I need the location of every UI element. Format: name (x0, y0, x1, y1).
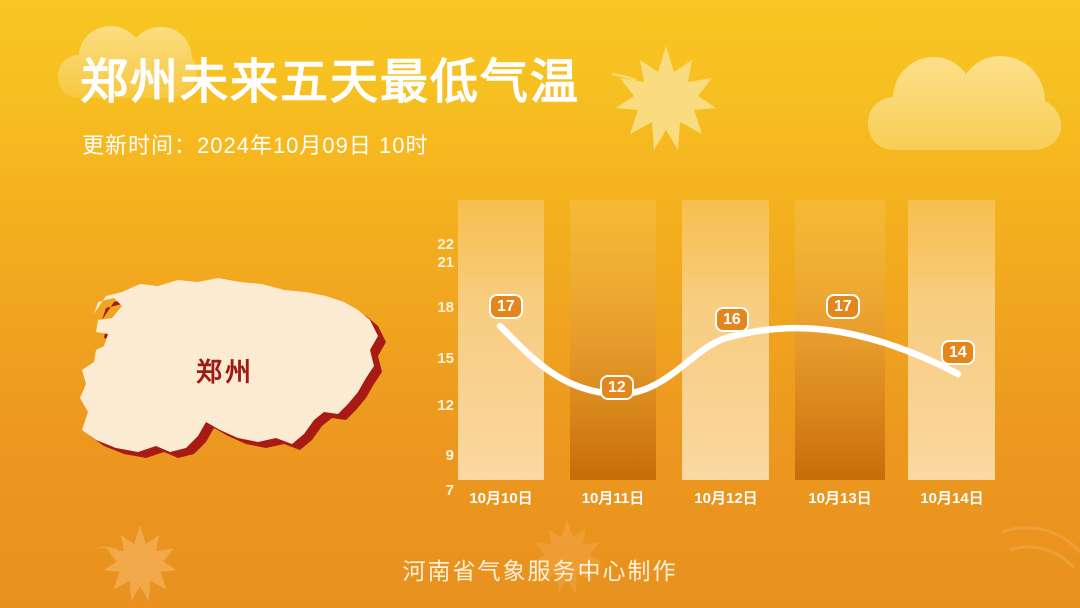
data-point-label: 12 (600, 375, 634, 400)
footer-credit: 河南省气象服务中心制作 (0, 552, 1080, 586)
chart-bar (458, 200, 544, 480)
y-axis-tick: 15 (412, 350, 454, 367)
x-axis-tick: 10月12日 (671, 487, 781, 508)
x-axis-tick: 10月10日 (446, 487, 556, 508)
x-axis-tick: 10月13日 (785, 487, 895, 508)
update-time-label: 更新时间：2024年10月09日 10时 (82, 128, 428, 160)
weather-infographic: 郑州未来五天最低气温 更新时间：2024年10月09日 10时 郑州 (0, 0, 1080, 608)
y-axis-tick: 9 (412, 447, 454, 464)
y-axis-tick: 22 (412, 236, 454, 253)
y-axis-tick: 12 (412, 397, 454, 414)
page-title: 郑州未来五天最低气温 (80, 55, 580, 110)
data-point-label: 17 (489, 294, 523, 319)
data-point-label: 17 (826, 294, 860, 319)
data-point-label: 16 (715, 307, 749, 332)
y-axis-tick: 18 (412, 299, 454, 316)
y-axis-tick: 21 (412, 254, 454, 271)
x-axis-tick: 10月11日 (558, 487, 668, 508)
x-axis-tick: 10月14日 (897, 487, 1007, 508)
chart-bar (570, 200, 656, 480)
data-point-label: 14 (941, 340, 975, 365)
map-city-label: 郑州 (196, 352, 254, 389)
